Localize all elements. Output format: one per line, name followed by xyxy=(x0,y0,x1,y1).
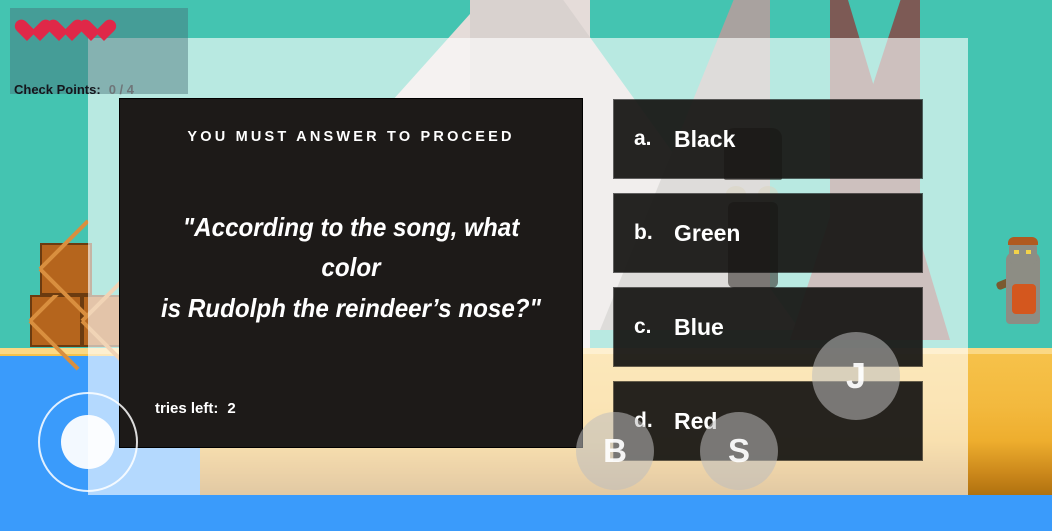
heart-icon xyxy=(78,20,104,44)
heart-icon xyxy=(46,20,72,44)
button-j[interactable]: J xyxy=(812,332,900,420)
virtual-joystick[interactable] xyxy=(38,392,138,492)
button-s[interactable]: S xyxy=(700,412,778,490)
question-line-1: "According to the song, what color xyxy=(153,207,549,288)
game-screen: Check Points:0 / 4 YOU MUST ANSWER TO PR… xyxy=(0,0,1052,531)
crate xyxy=(40,243,92,295)
tries-left-label: tries left: xyxy=(155,400,218,417)
answer-label: Green xyxy=(674,220,740,247)
enemy-sprite xyxy=(1000,230,1046,342)
answer-label: Black xyxy=(674,126,735,153)
question-text: "According to the song, what color is Ru… xyxy=(153,207,549,328)
answer-key: b. xyxy=(634,221,674,245)
checkpoints-readout: Check Points:0 / 4 xyxy=(14,82,134,97)
enemy-hair xyxy=(1008,237,1038,245)
question-header: YOU MUST ANSWER TO PROCEED xyxy=(120,129,582,145)
checkpoints-value: 0 / 4 xyxy=(109,82,134,97)
heart-icon xyxy=(14,20,40,44)
lives-indicator xyxy=(14,20,104,44)
checkpoints-label: Check Points: xyxy=(14,82,101,97)
enemy-eye-right xyxy=(1026,250,1031,254)
question-panel: YOU MUST ANSWER TO PROCEED "According to… xyxy=(120,99,582,447)
answer-label: Blue xyxy=(674,314,724,341)
water-bottom xyxy=(0,495,1052,531)
button-b[interactable]: B xyxy=(576,412,654,490)
enemy-eye-left xyxy=(1014,250,1019,254)
answer-key: c. xyxy=(634,315,674,339)
tries-left-value: 2 xyxy=(227,400,235,417)
answer-option-b[interactable]: b. Green xyxy=(614,194,922,272)
enemy-vest xyxy=(1012,284,1036,314)
answer-list: a. Black b. Green c. Blue d. Red xyxy=(614,100,922,476)
tries-left-readout: tries left:2 xyxy=(155,400,236,417)
joystick-knob[interactable] xyxy=(61,415,115,469)
answer-option-a[interactable]: a. Black xyxy=(614,100,922,178)
answer-key: a. xyxy=(634,127,674,151)
question-line-2: is Rudolph the reindeer’s nose?" xyxy=(153,288,549,328)
